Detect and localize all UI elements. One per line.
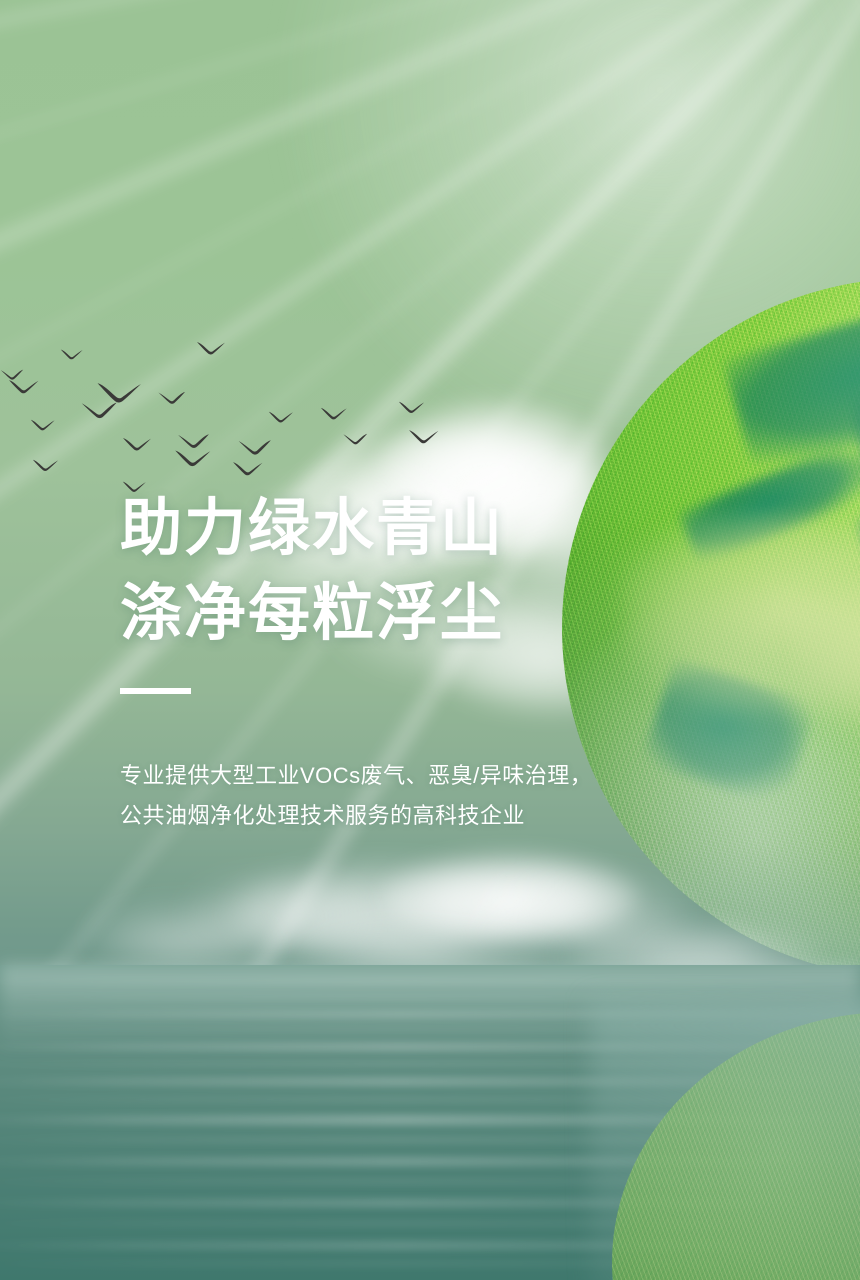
bird-icon: [81, 400, 119, 420]
bird-icon: [30, 418, 56, 432]
bird-icon: [320, 406, 348, 421]
bird-icon: [268, 410, 294, 424]
submerged-globe-veil: [590, 1000, 860, 1280]
hero-copy: 助力绿水青山 涤净每粒浮尘 专业提供大型工业VOCs废气、恶臭/异味治理， 公共…: [120, 486, 680, 836]
bird-icon: [343, 432, 369, 446]
bird-icon: [408, 428, 440, 445]
bird-icon: [174, 448, 212, 468]
bird-icon: [238, 438, 273, 456]
bird-icon: [32, 458, 59, 472]
headline-line-2: 涤净每粒浮尘: [120, 571, 680, 656]
hero-banner: 助力绿水青山 涤净每粒浮尘 专业提供大型工业VOCs废气、恶臭/异味治理， 公共…: [0, 0, 860, 1280]
subtitle-line-2: 公共油烟净化处理技术服务的高科技企业: [120, 796, 680, 836]
bird-icon: [122, 436, 152, 452]
subtitle-line-1: 专业提供大型工业VOCs废气、恶臭/异味治理，: [120, 694, 680, 796]
headline-line-1: 助力绿水青山: [120, 486, 680, 571]
bird-icon: [158, 390, 187, 405]
bird-icon: [0, 368, 24, 381]
bird-icon: [196, 340, 226, 356]
bird-icon: [398, 400, 425, 414]
bird-icon: [232, 460, 264, 477]
bird-icon: [177, 432, 210, 450]
bird-icon: [60, 348, 83, 360]
